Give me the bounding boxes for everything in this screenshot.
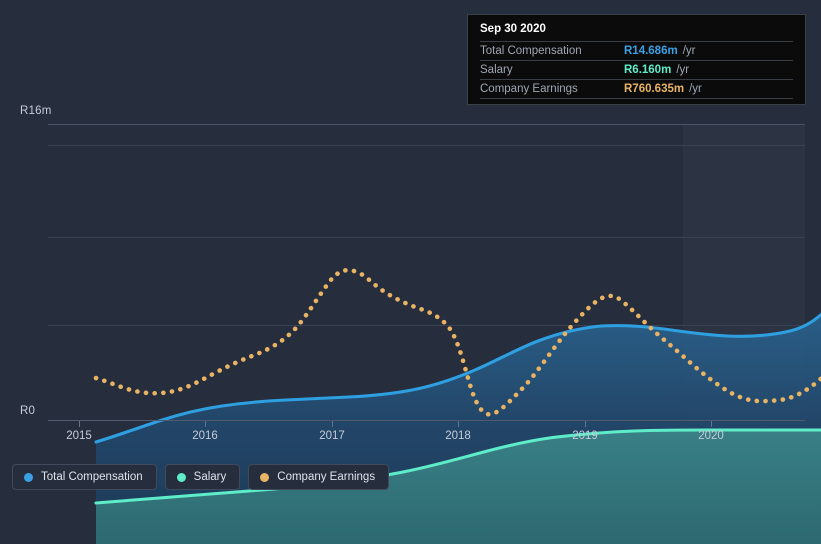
plot-top-border [48, 124, 805, 125]
legend-item-salary[interactable]: Salary [165, 464, 241, 490]
plot-area [48, 124, 805, 420]
x-axis-line [48, 420, 805, 421]
legend-item-total-compensation[interactable]: Total Compensation [12, 464, 157, 490]
tooltip-unit-company-earnings: /yr [689, 83, 702, 95]
legend-dot-icon [24, 473, 33, 482]
tooltip-unit-salary: /yr [676, 64, 689, 76]
gridline [48, 237, 805, 238]
tooltip-value-company-earnings: R760.635m [624, 83, 684, 95]
series-svg [96, 248, 821, 544]
x-axis-tick [79, 421, 80, 427]
x-axis-label-2016: 2016 [192, 430, 218, 442]
tooltip-date: Sep 30 2020 [480, 22, 793, 41]
tooltip-row-company-earnings: Company Earnings R760.635m /yr [480, 79, 793, 99]
x-axis-tick [711, 421, 712, 427]
chart-legend: Total Compensation Salary Company Earnin… [12, 464, 389, 490]
legend-label-salary: Salary [194, 471, 227, 483]
gridline [48, 145, 805, 146]
y-axis-min-label: R0 [20, 405, 35, 417]
x-axis-label-2017: 2017 [319, 430, 345, 442]
tooltip-value-total-compensation: R14.686m [624, 45, 678, 57]
tooltip-row-salary: Salary R6.160m /yr [480, 60, 793, 79]
legend-dot-icon [177, 473, 186, 482]
legend-label-total-compensation: Total Compensation [41, 471, 143, 483]
tooltip-unit-total-compensation: /yr [683, 45, 696, 57]
x-axis-label-2015: 2015 [66, 430, 92, 442]
tooltip-label-salary: Salary [480, 64, 624, 76]
legend-label-company-earnings: Company Earnings [277, 471, 375, 483]
x-axis-tick [205, 421, 206, 427]
x-axis-tick [585, 421, 586, 427]
x-axis-tick [458, 421, 459, 427]
legend-dot-icon [260, 473, 269, 482]
chart-tooltip: Sep 30 2020 Total Compensation R14.686m … [467, 14, 806, 105]
tooltip-label-total-compensation: Total Compensation [480, 45, 624, 57]
x-axis-label-2020: 2020 [698, 430, 724, 442]
x-axis-label-2019: 2019 [572, 430, 598, 442]
compensation-chart: R16m R0 2015 2016 2017 2018 2019 2020 Se… [0, 0, 821, 508]
x-axis-tick [332, 421, 333, 427]
y-axis-max-label: R16m [20, 105, 51, 117]
tooltip-value-salary: R6.160m [624, 64, 671, 76]
legend-item-company-earnings[interactable]: Company Earnings [248, 464, 389, 490]
tooltip-row-total-compensation: Total Compensation R14.686m /yr [480, 41, 793, 60]
tooltip-label-company-earnings: Company Earnings [480, 83, 624, 95]
x-axis-label-2018: 2018 [445, 430, 471, 442]
